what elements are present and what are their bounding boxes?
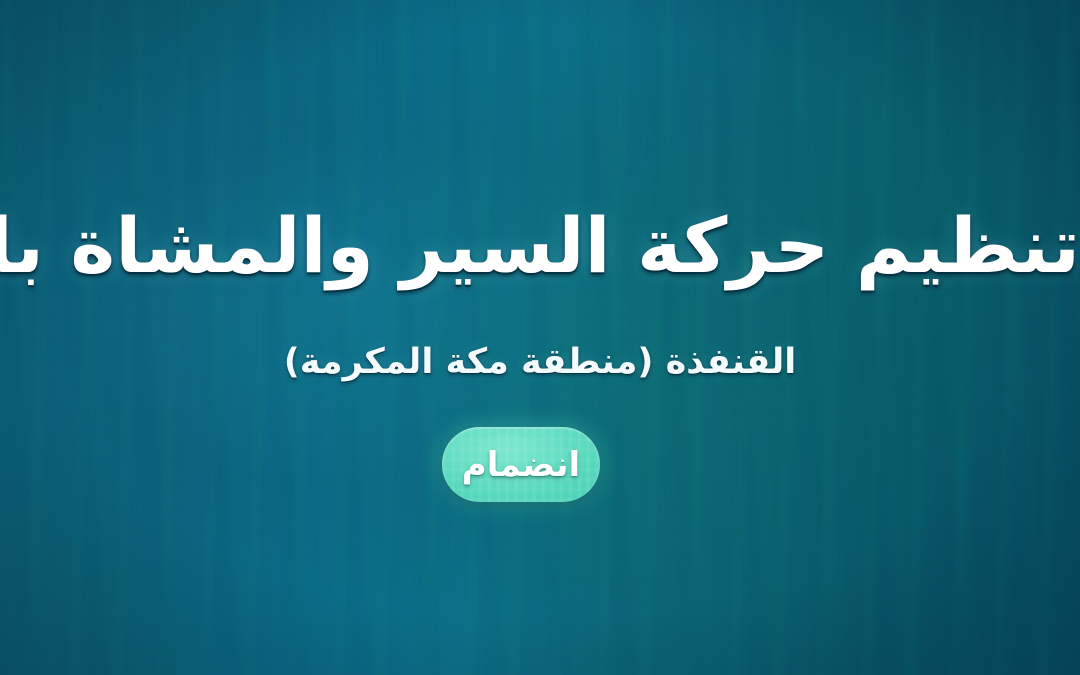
join-button-label: انضمام <box>462 445 580 485</box>
slide-content: تنظيم حركة السير والمشاة بالمقبرة القنفذ… <box>0 0 1080 675</box>
slide-title: تنظيم حركة السير والمشاة بالمقبرة <box>0 201 1080 291</box>
presentation-slide: تنظيم حركة السير والمشاة بالمقبرة القنفذ… <box>0 0 1080 675</box>
slide-subtitle: القنفذة (منطقة مكة المكرمة) <box>0 341 1080 385</box>
cta-container: انضمام <box>0 427 1080 502</box>
join-button[interactable]: انضمام <box>442 427 600 502</box>
